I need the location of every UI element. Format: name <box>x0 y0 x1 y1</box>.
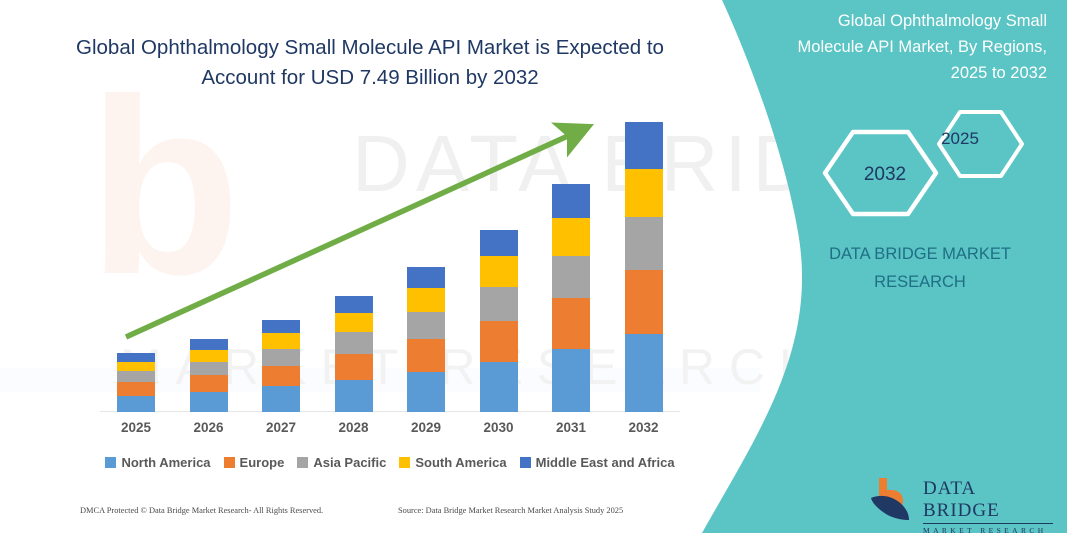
bar-segment <box>407 312 445 339</box>
bar-segment <box>480 287 518 321</box>
stacked-bar[interactable] <box>480 230 518 412</box>
stacked-bar[interactable] <box>407 267 445 412</box>
bar-segment <box>117 353 155 362</box>
legend-label: North America <box>121 455 210 470</box>
bar-segment <box>262 366 300 387</box>
hexagon-2025-label: 2025 <box>920 129 1000 149</box>
bar-segment <box>335 380 373 412</box>
bar-chart-plot-area <box>100 100 680 412</box>
bar-group-2031 <box>535 100 607 412</box>
legend-label: South America <box>415 455 506 470</box>
bar-segment <box>190 339 228 349</box>
bar-segment <box>262 333 300 348</box>
hexagon-2032-label: 2032 <box>840 164 930 186</box>
x-axis-label-2028: 2028 <box>318 420 390 435</box>
x-axis-label-2029: 2029 <box>390 420 462 435</box>
bar-segment <box>480 362 518 412</box>
right-side-panel: Global Ophthalmology Small Molecule API … <box>650 0 1067 533</box>
bar-segment <box>552 184 590 217</box>
panel-title: Global Ophthalmology Small Molecule API … <box>775 8 1047 86</box>
bar-segment <box>117 382 155 396</box>
hexagon-shapes <box>805 108 1050 218</box>
data-bridge-logo-icon <box>865 474 917 522</box>
x-axis-label-2025: 2025 <box>100 420 172 435</box>
bar-segment <box>335 332 373 354</box>
chart-legend: North AmericaEuropeAsia PacificSouth Ame… <box>100 455 680 470</box>
bar-segment <box>552 298 590 349</box>
bar-segment <box>407 372 445 412</box>
legend-item-1[interactable]: Europe <box>224 455 285 470</box>
bar-group-2028 <box>318 100 390 412</box>
bar-group-2029 <box>390 100 462 412</box>
x-axis-label-2026: 2026 <box>173 420 245 435</box>
legend-swatch-icon <box>399 457 410 468</box>
hexagon-group: 2025 2032 <box>805 108 1050 218</box>
bar-segment <box>407 339 445 372</box>
stacked-bar[interactable] <box>190 339 228 412</box>
footer-source: Source: Data Bridge Market Research Mark… <box>398 506 623 515</box>
bar-segment <box>552 256 590 299</box>
chart-title: Global Ophthalmology Small Molecule API … <box>60 33 680 93</box>
x-axis-label-2027: 2027 <box>245 420 317 435</box>
bar-group-2027 <box>245 100 317 412</box>
logo-main-text: DATA BRIDGE <box>923 478 1055 522</box>
stacked-bar[interactable] <box>552 184 590 412</box>
legend-item-0[interactable]: North America <box>105 455 210 470</box>
x-axis-label-2030: 2030 <box>463 420 535 435</box>
panel-brand-text: DATA BRIDGE MARKET RESEARCH <box>790 240 1050 296</box>
panel-content: Global Ophthalmology Small Molecule API … <box>650 0 1067 533</box>
logo-divider <box>923 523 1053 524</box>
bar-segment <box>117 362 155 372</box>
bar-segment <box>407 267 445 288</box>
bar-segment <box>117 371 155 382</box>
bar-segment <box>335 313 373 332</box>
company-logo: DATA BRIDGE MARKET RESEARCH <box>865 472 1055 524</box>
x-axis-labels: 20252026202720282029203020312032 <box>100 420 680 442</box>
bar-segment <box>190 362 228 376</box>
bar-group-2026 <box>173 100 245 412</box>
legend-swatch-icon <box>520 457 531 468</box>
bar-segment <box>552 349 590 412</box>
legend-swatch-icon <box>224 457 235 468</box>
logo-wordmark: DATA BRIDGE MARKET RESEARCH <box>923 478 1055 533</box>
bar-segment <box>480 256 518 286</box>
legend-item-2[interactable]: Asia Pacific <box>297 455 386 470</box>
footer-copyright: DMCA Protected © Data Bridge Market Rese… <box>80 506 323 515</box>
bar-segment <box>480 321 518 362</box>
bar-segment <box>117 396 155 412</box>
x-axis-label-2031: 2031 <box>535 420 607 435</box>
bar-segment <box>190 392 228 412</box>
legend-label: Europe <box>240 455 285 470</box>
legend-swatch-icon <box>105 457 116 468</box>
bar-segment <box>190 350 228 362</box>
bar-group-2025 <box>100 100 172 412</box>
bar-segment <box>335 296 373 313</box>
legend-label: Asia Pacific <box>313 455 386 470</box>
legend-swatch-icon <box>297 457 308 468</box>
bar-segment <box>262 349 300 366</box>
logo-sub-text: MARKET RESEARCH <box>923 526 1055 533</box>
stacked-bar[interactable] <box>262 320 300 412</box>
legend-item-3[interactable]: South America <box>399 455 506 470</box>
bar-segment <box>480 230 518 256</box>
stacked-bar[interactable] <box>117 353 155 412</box>
bar-group-2030 <box>463 100 535 412</box>
bar-segment <box>335 354 373 380</box>
bar-segment <box>262 320 300 333</box>
bar-segment <box>190 375 228 392</box>
bar-segment <box>552 218 590 256</box>
footer: DMCA Protected © Data Bridge Market Rese… <box>80 506 700 522</box>
stacked-bar[interactable] <box>335 296 373 412</box>
infographic-canvas: b DATA BRIDGE MARKET RESEARCH Global Oph… <box>0 0 1067 533</box>
bar-segment <box>262 386 300 412</box>
bar-segment <box>407 288 445 312</box>
